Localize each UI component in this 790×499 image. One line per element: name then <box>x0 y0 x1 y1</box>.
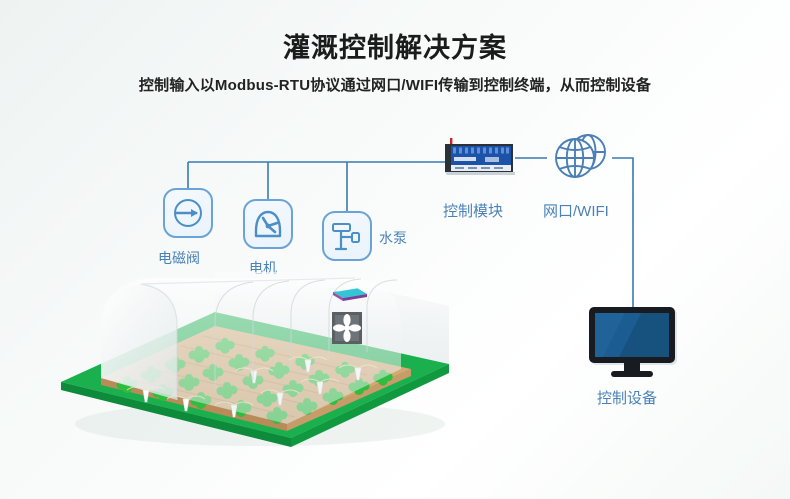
label-network: 网口/WIFI <box>543 200 609 221</box>
device-tile-motor[interactable] <box>243 199 293 249</box>
label-control-device: 控制设备 <box>597 387 657 408</box>
label-control-module: 控制模块 <box>443 200 503 221</box>
monitor-icon <box>589 305 679 379</box>
motor-icon <box>245 201 291 247</box>
valve-icon <box>165 190 211 236</box>
pump-icon <box>324 213 370 259</box>
control-module-device[interactable] <box>441 138 513 172</box>
device-tile-water-pump[interactable] <box>322 211 372 261</box>
exhaust-fan-icon <box>332 312 362 344</box>
diagram-canvas: 灌溉控制解决方案 控制输入以Modbus-RTU协议通过网口/WIFI传输到控制… <box>0 0 790 499</box>
din-rail-module-icon <box>441 138 519 180</box>
greenhouse-illustration <box>55 272 455 452</box>
control-device-monitor[interactable] <box>589 305 679 377</box>
label-solenoid-valve: 电磁阀 <box>158 248 200 268</box>
device-tile-solenoid-valve[interactable] <box>163 188 213 238</box>
label-water-pump: 水泵 <box>379 228 407 248</box>
globe-icon <box>547 128 613 188</box>
network-node[interactable] <box>547 128 613 188</box>
